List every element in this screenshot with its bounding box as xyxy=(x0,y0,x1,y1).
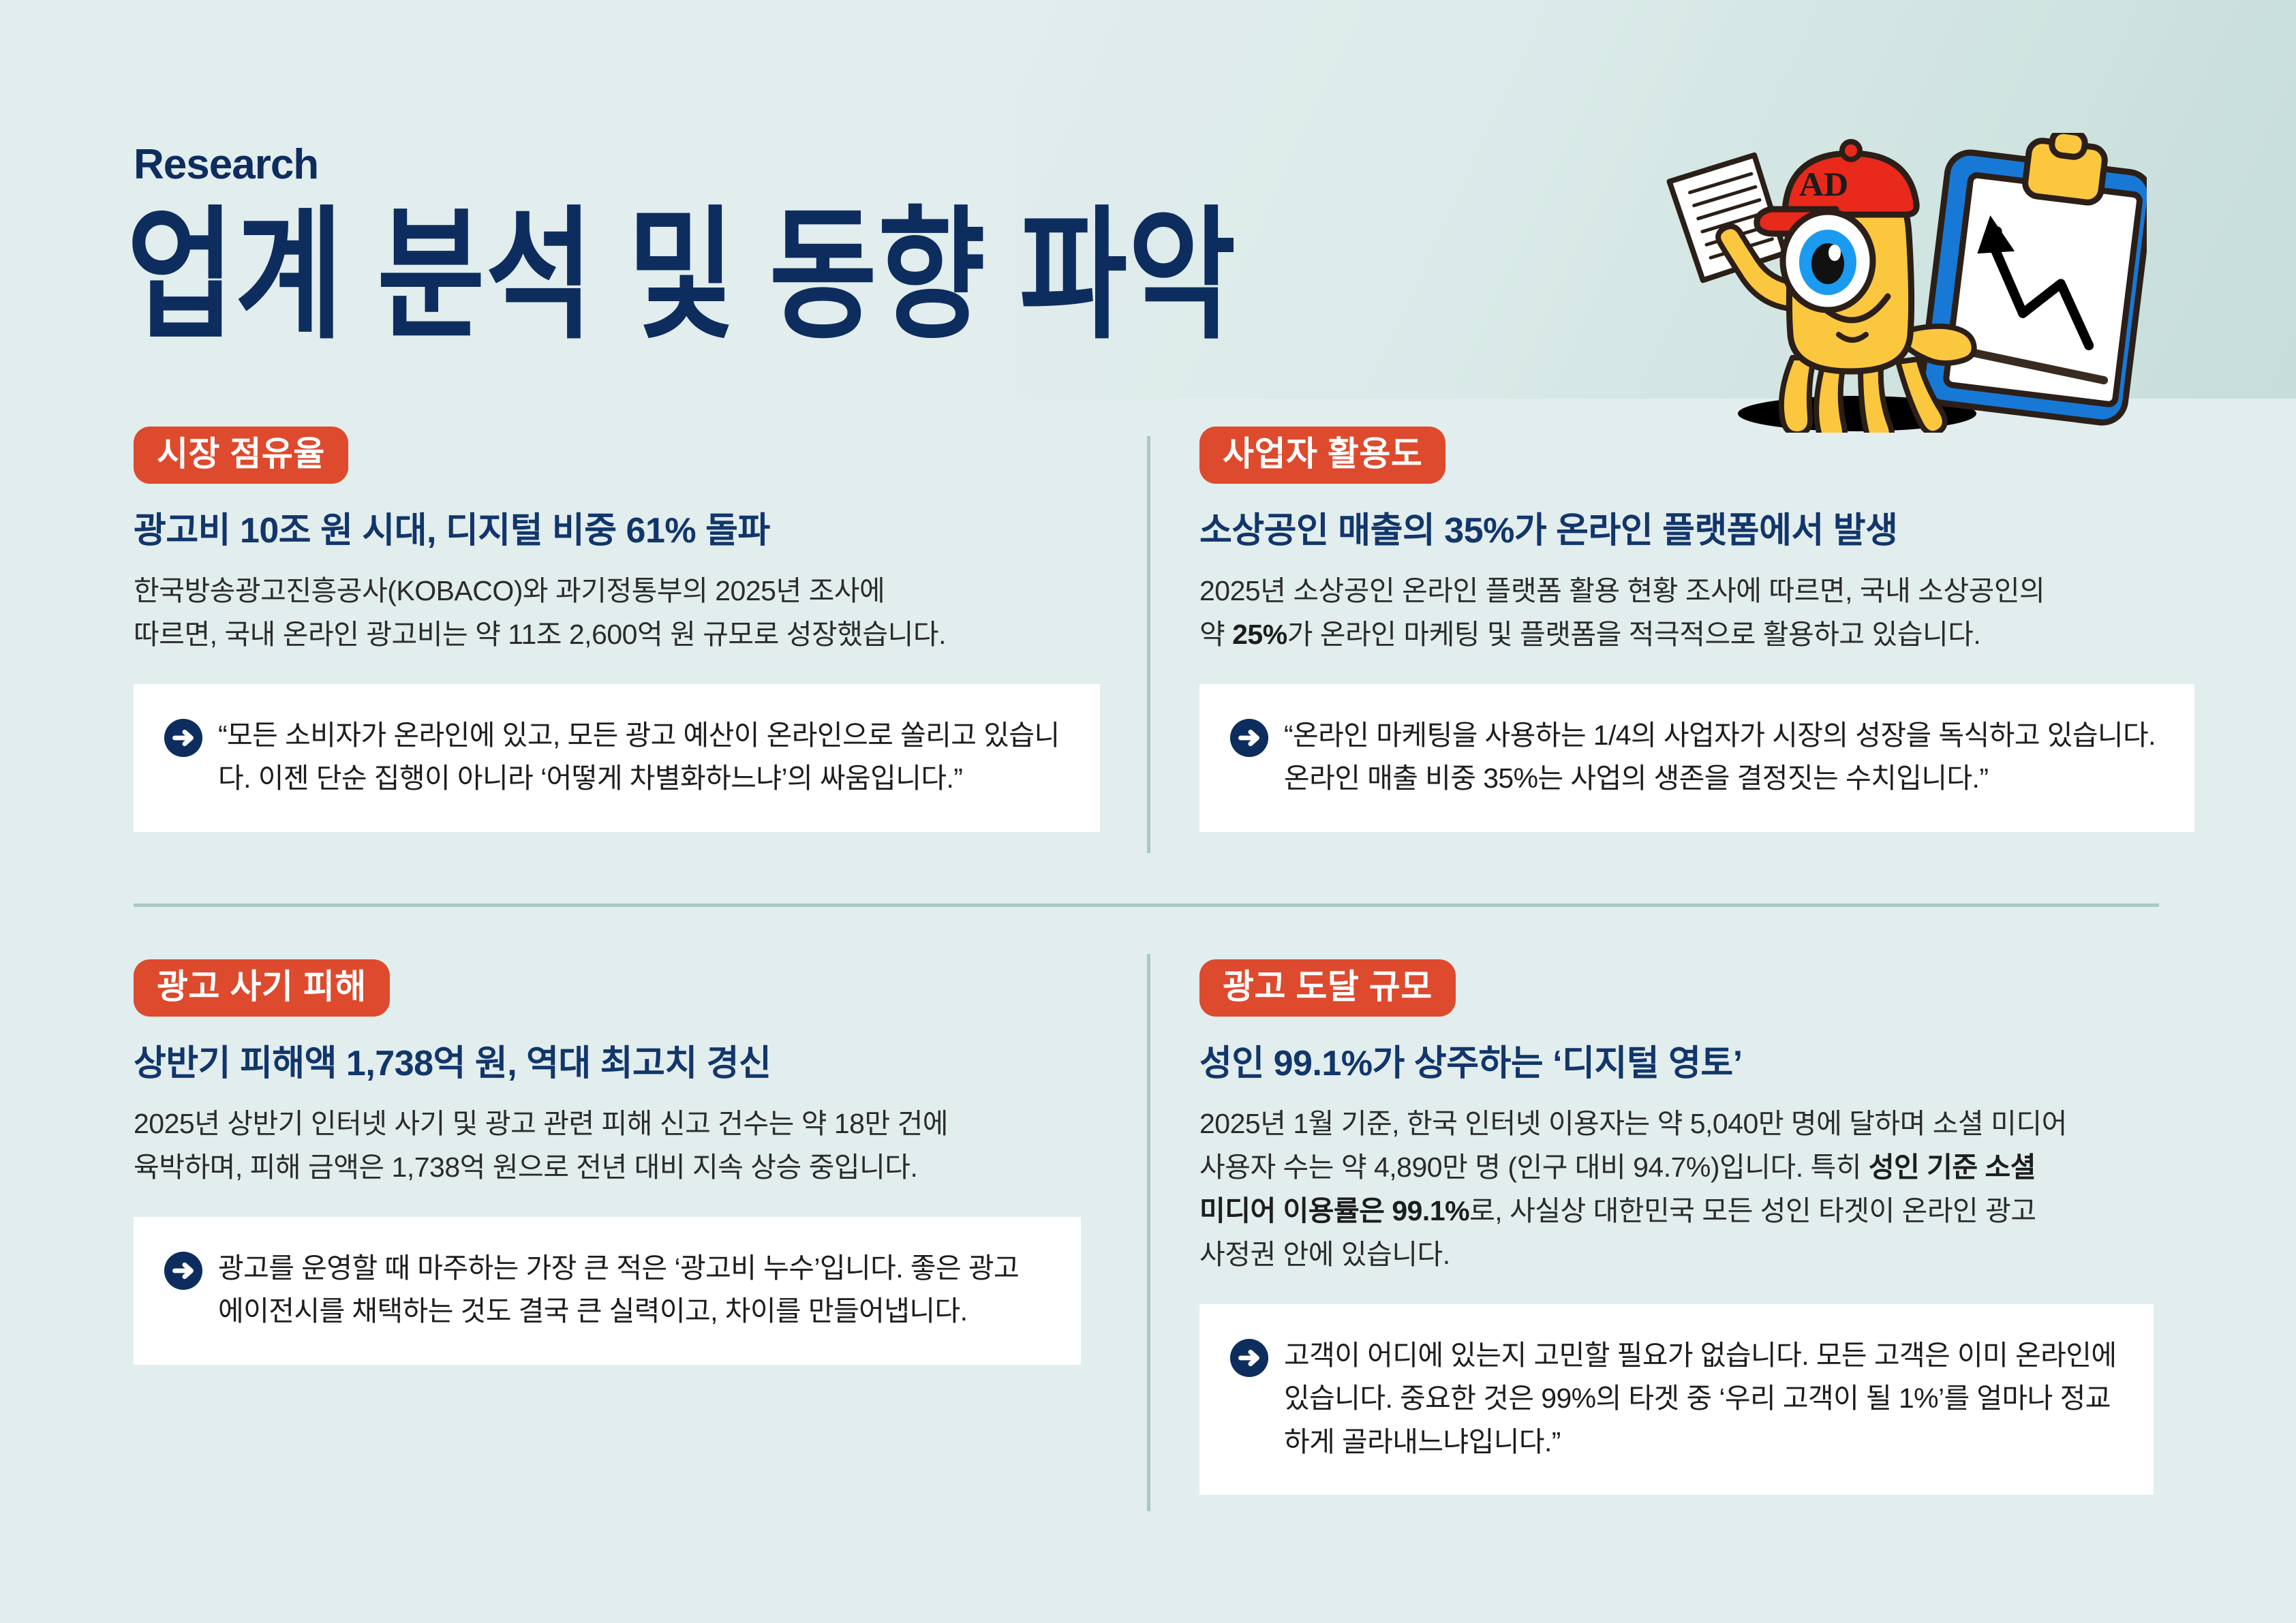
section-body-market-share: 한국방송광고진흥공사(KOBACO)와 과기정통부의 2025년 조사에 따르면… xyxy=(134,570,1060,657)
body-line-2: 따르면, 국내 온라인 광고비는 약 11조 2,600억 원 규모로 성장했습… xyxy=(134,619,946,650)
body-line-2: 육박하며, 피해 금액은 1,738억 원으로 전년 대비 지속 상승 중입니다… xyxy=(134,1151,917,1183)
section-business-usage: 사업자 활용도 소상공인 매출의 35%가 온라인 플랫폼에서 발생 2025년… xyxy=(1199,427,2167,832)
body-line-2-prefix: 약 xyxy=(1199,619,1232,650)
section-ad-reach: 광고 도달 규모 성인 99.1%가 상주하는 ‘디지털 영토’ 2025년 1… xyxy=(1199,959,2167,1495)
badge-market-share: 시장 점유율 xyxy=(134,427,348,484)
horizontal-divider xyxy=(134,903,2159,907)
body-line-1: 한국방송광고진흥공사(KOBACO)와 과기정통부의 2025년 조사에 xyxy=(134,575,885,606)
quote-box-ad-reach: 고객이 어디에 있는지 고민할 필요가 없습니다. 모든 고객은 이미 온라인에… xyxy=(1199,1304,2154,1496)
body-line-2-bold: 25% xyxy=(1232,619,1287,650)
badge-ad-fraud: 광고 사기 피해 xyxy=(134,959,390,1017)
clipboard-icon xyxy=(1920,133,2147,425)
page-title: 업계 분석 및 동향 파악 xyxy=(127,204,1236,347)
quote-text-ad-reach: 고객이 어디에 있는지 고민할 필요가 없습니다. 모든 고객은 이미 온라인에… xyxy=(1284,1334,2122,1464)
body-line-4: 사정권 안에 있습니다. xyxy=(1199,1239,1450,1270)
arrow-right-circle-icon xyxy=(1229,718,1269,758)
section-heading-ad-reach: 성인 99.1%가 상주하는 ‘디지털 영토’ xyxy=(1199,1044,2167,1085)
eyebrow-label: Research xyxy=(134,140,318,189)
section-body-business-usage: 2025년 소상공인 온라인 플랫폼 활용 현황 조사에 따르면, 국내 소상공… xyxy=(1199,570,2126,657)
cap-ad-text: AD xyxy=(1799,165,1848,203)
section-ad-fraud: 광고 사기 피해 상반기 피해액 1,738억 원, 역대 최고치 경신 202… xyxy=(134,959,1101,1365)
mascot-right-arm xyxy=(1908,326,1974,363)
ad-octopus-mascot: AD xyxy=(1588,133,2147,433)
quote-text-market-share: “모든 소비자가 온라인에 있고, 모든 광고 예산이 온라인으로 쏠리고 있습… xyxy=(218,714,1069,801)
section-heading-market-share: 광고비 10조 원 시대, 디지털 비중 61% 돌파 xyxy=(134,511,1101,552)
page-header: Research 업계 분석 및 동향 파악 xyxy=(0,0,2296,399)
section-heading-ad-fraud: 상반기 피해액 1,738억 원, 역대 최고치 경신 xyxy=(134,1044,1101,1085)
arrow-right-circle-icon xyxy=(164,1251,203,1290)
body-line-1: 2025년 1월 기준, 한국 인터넷 이용자는 약 5,040만 명에 달하며… xyxy=(1199,1108,2067,1139)
quote-box-business-usage: “온라인 마케팅을 사용하는 1/4의 사업자가 시장의 성장을 독식하고 있습… xyxy=(1199,684,2194,832)
quote-box-market-share: “모든 소비자가 온라인에 있고, 모든 광고 예산이 온라인으로 쏠리고 있습… xyxy=(134,684,1100,832)
badge-business-usage: 사업자 활용도 xyxy=(1199,427,1445,484)
arrow-right-circle-icon xyxy=(164,718,203,758)
body-line-2-suffix: 가 온라인 마케팅 및 플랫폼을 적극적으로 활용하고 있습니다. xyxy=(1287,619,1981,650)
body-line-2-prefix: 사용자 수는 약 4,890만 명 (인구 대비 94.7%)입니다. 특히 xyxy=(1199,1151,1869,1183)
mascot-eye xyxy=(1783,212,1873,310)
vertical-divider-bottom xyxy=(1147,954,1150,1511)
quote-box-ad-fraud: 광고를 운영할 때 마주하는 가장 큰 적은 ‘광고비 누수’입니다. 좋은 광… xyxy=(134,1217,1081,1365)
body-line-1: 2025년 소상공인 온라인 플랫폼 활용 현황 조사에 따르면, 국내 소상공… xyxy=(1199,575,2045,606)
badge-ad-reach: 광고 도달 규모 xyxy=(1199,959,1456,1017)
section-heading-business-usage: 소상공인 매출의 35%가 온라인 플랫폼에서 발생 xyxy=(1199,511,2167,552)
arrow-right-circle-icon xyxy=(1229,1338,1269,1378)
body-line-1: 2025년 상반기 인터넷 사기 및 광고 관련 피해 신고 건수는 약 18만… xyxy=(134,1108,948,1139)
body-bold-1: 성인 기준 소셜 xyxy=(1869,1151,2036,1183)
quote-text-ad-fraud: 광고를 운영할 때 마주하는 가장 큰 적은 ‘광고비 누수’입니다. 좋은 광… xyxy=(218,1247,1050,1333)
quote-text-business-usage: “온라인 마케팅을 사용하는 1/4의 사업자가 시장의 성장을 독식하고 있습… xyxy=(1284,714,2163,801)
section-body-ad-fraud: 2025년 상반기 인터넷 사기 및 광고 관련 피해 신고 건수는 약 18만… xyxy=(134,1102,1060,1190)
body-bold-2: 미디어 이용률은 99.1% xyxy=(1199,1195,1469,1226)
body-line-3-suffix: 로, 사실상 대한민국 모든 성인 타겟이 온라인 광고 xyxy=(1469,1195,2036,1226)
vertical-divider-top xyxy=(1147,436,1150,853)
section-body-ad-reach: 2025년 1월 기준, 한국 인터넷 이용자는 약 5,040만 명에 달하며… xyxy=(1199,1102,2126,1277)
section-market-share: 시장 점유율 광고비 10조 원 시대, 디지털 비중 61% 돌파 한국방송광… xyxy=(134,427,1101,832)
